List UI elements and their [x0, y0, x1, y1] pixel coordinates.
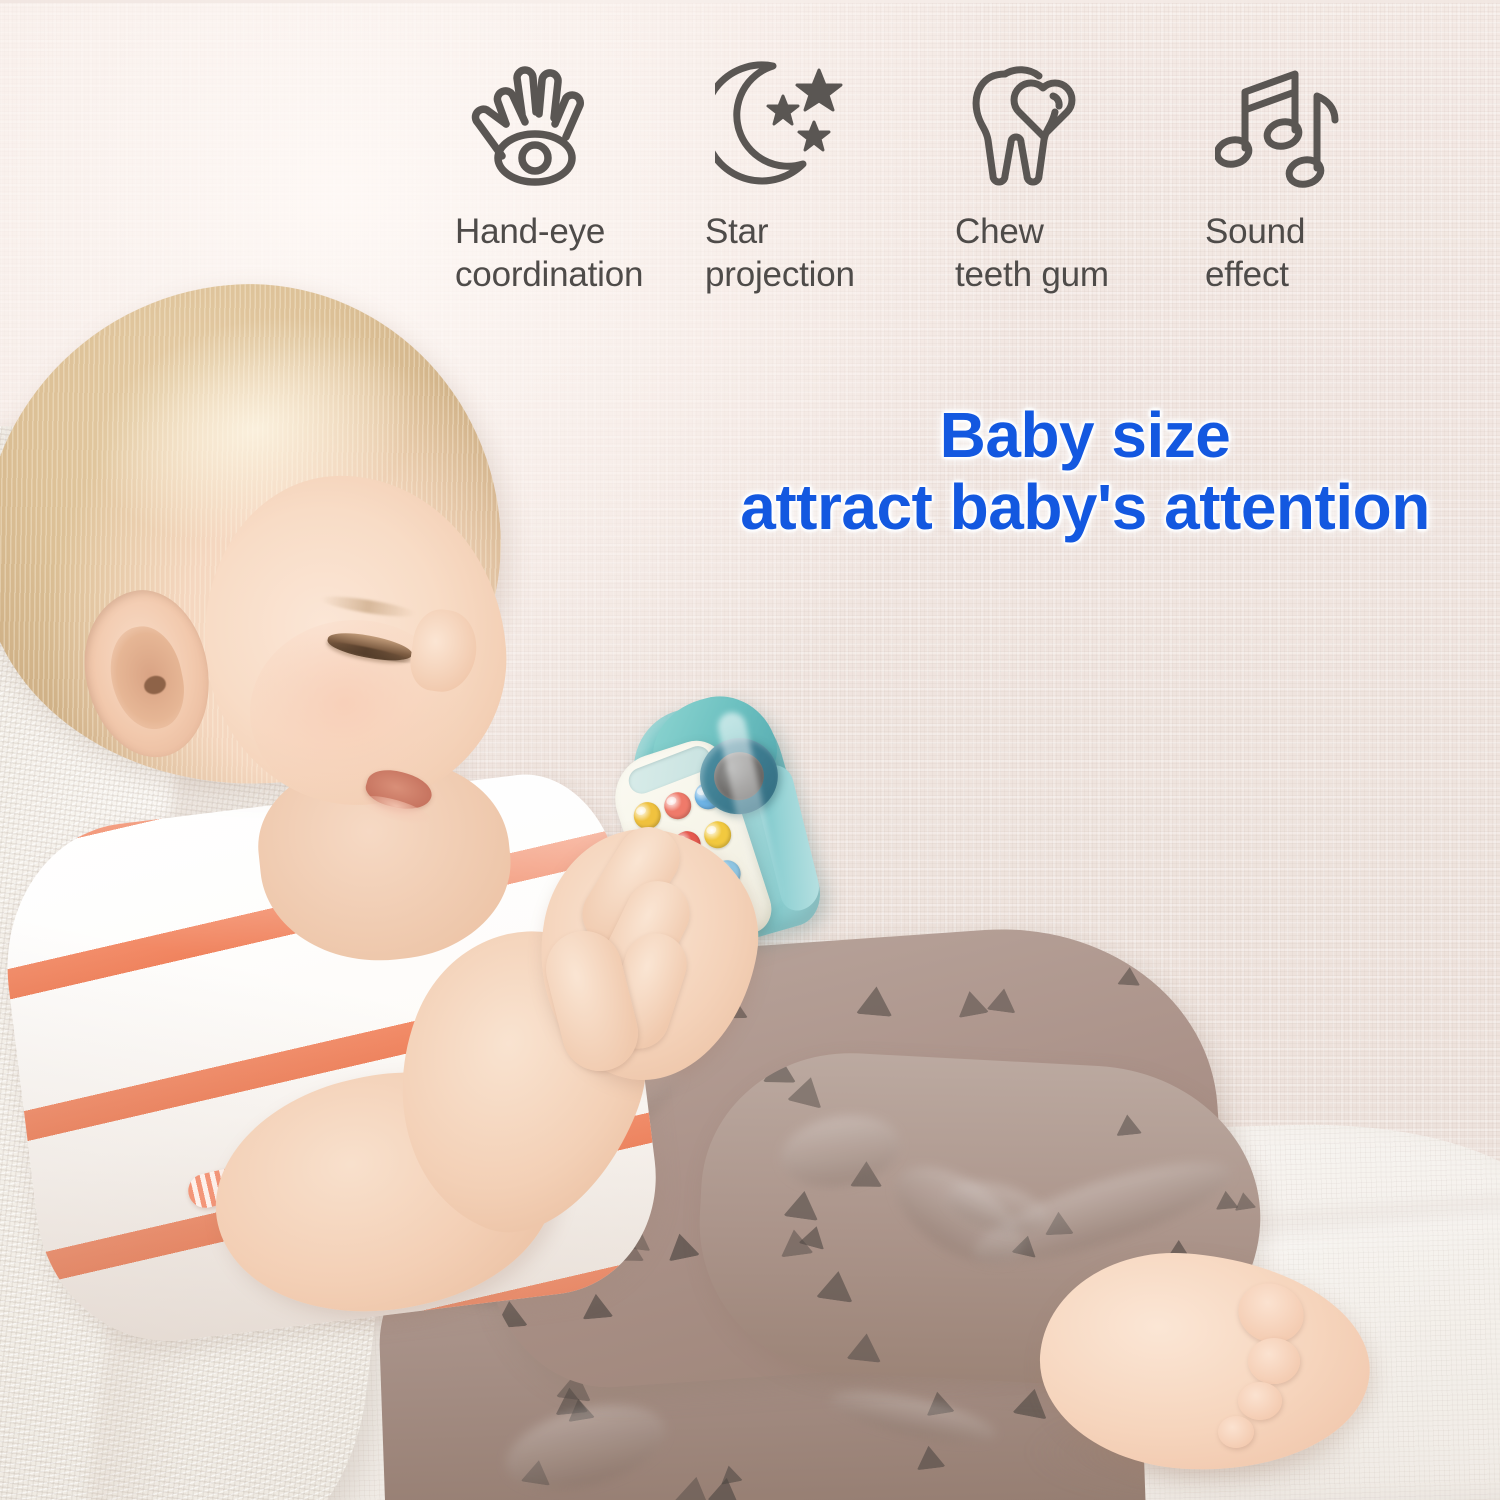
feature-star-projection: Star projection	[705, 48, 955, 313]
button-shine	[665, 796, 677, 807]
pants-triangle-motif	[1114, 922, 1148, 949]
pants-triangle-motif	[673, 1473, 715, 1500]
pants-triangle-motif	[580, 1292, 613, 1319]
headline-line-1: Baby size	[690, 400, 1480, 472]
feature-label: Hand-eye coordination	[455, 210, 705, 296]
headline-line-2: attract baby's attention	[690, 472, 1480, 544]
pants-triangle-motif	[816, 1268, 857, 1302]
product-image-canvas: Hand-eye coordination Star projection	[0, 0, 1500, 1500]
pants-triangle-motif	[1114, 1113, 1142, 1136]
pants-fold-shading	[827, 1382, 1000, 1453]
feature-label: Star projection	[705, 210, 955, 296]
button-shine	[705, 825, 717, 836]
pants-triangle-motif	[492, 1300, 527, 1329]
pants-triangle-motif	[856, 985, 895, 1017]
pants-triangle-motif	[1158, 929, 1190, 955]
pants-triangle-motif	[1117, 966, 1141, 985]
baby-toe	[1218, 1416, 1254, 1448]
pants-triangle-motif	[954, 988, 989, 1018]
pants-triangle-motif	[787, 1073, 828, 1109]
hand-eye-icon	[465, 48, 605, 196]
headline: Baby size attract baby's attention	[690, 400, 1480, 543]
feature-hand-eye-coordination: Hand-eye coordination	[455, 48, 705, 313]
feature-label: Sound effect	[1205, 210, 1455, 296]
pants-triangle-motif	[846, 1331, 884, 1362]
feature-label: Chew teeth gum	[955, 210, 1205, 296]
moon-stars-icon	[715, 48, 855, 196]
pants-fold-shading	[775, 1107, 905, 1196]
pants-triangle-motif	[783, 1188, 822, 1220]
baby-toe	[1248, 1338, 1300, 1384]
pants-triangle-motif	[1214, 1190, 1238, 1210]
baby-toe	[1238, 1382, 1282, 1420]
feature-chew-teeth-gum: Chew teeth gum	[955, 48, 1205, 313]
feature-sound-effect: Sound effect	[1205, 48, 1455, 313]
tooth-heart-icon	[965, 48, 1105, 196]
pants-triangle-motif	[914, 1444, 946, 1470]
pants-triangle-motif	[664, 1230, 700, 1261]
feature-icon-row: Hand-eye coordination Star projection	[455, 48, 1455, 313]
button-shine	[635, 805, 647, 816]
music-notes-icon	[1215, 48, 1355, 196]
toy-phone-button[interactable]	[661, 789, 695, 823]
pants-triangle-motif	[987, 987, 1019, 1014]
